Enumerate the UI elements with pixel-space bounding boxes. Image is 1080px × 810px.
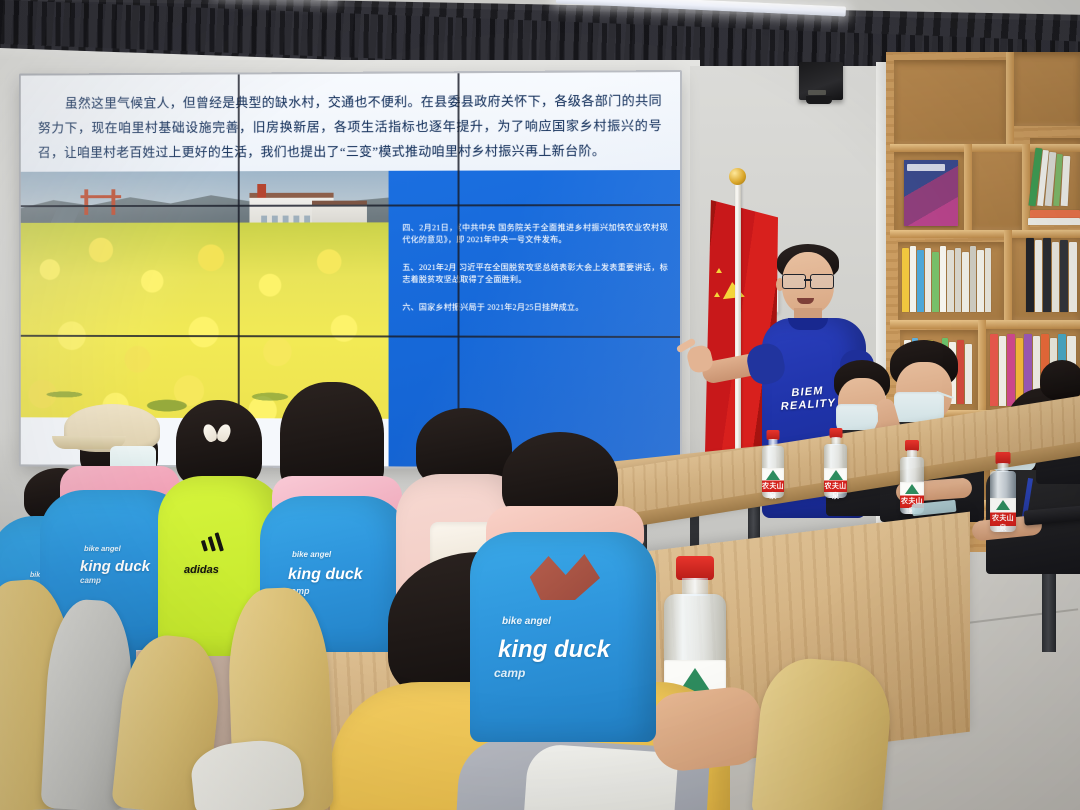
slide-list-item: 四、2月21日，《中共中央 国务院关于全面推进乡村振兴加快农业农村现代化的意见》… [402, 222, 668, 246]
book [1043, 238, 1051, 312]
flag-finial-icon [729, 168, 746, 185]
slide-paragraph: 虽然这里气候宜人，但曾经是典型的缺水村，交通也不便利。在县委县政府关怀下，各级各… [38, 88, 662, 165]
flag-star-small-icon [714, 292, 720, 297]
book [902, 248, 909, 312]
book-stack [1028, 218, 1080, 225]
shelf-cubby [972, 144, 1022, 230]
child-hand [648, 684, 766, 773]
jersey-subtext: bike angel [502, 616, 551, 627]
wall-speaker-icon [799, 62, 843, 100]
presenter-collar [788, 318, 828, 330]
water-bottle[interactable]: 农夫山泉 [990, 452, 1016, 532]
book [977, 250, 984, 312]
speaker-mount [806, 96, 832, 104]
bottle-label: 农夫山泉 [824, 468, 847, 492]
book [940, 246, 946, 312]
jersey-text: king duck [498, 636, 610, 664]
book [932, 252, 939, 312]
shelf-cubby [1014, 52, 1080, 126]
jersey-text: king duck [80, 558, 150, 575]
shelf-divider [1006, 52, 1014, 144]
glasses-icon [780, 274, 836, 287]
slide-paragraph-area: 虽然这里气候宜人，但曾经是典型的缺水村，交通也不便利。在县委县政府关怀下，各级各… [21, 72, 680, 172]
child-attendee: king duck bike angel camp [476, 440, 656, 740]
shelf-divider [964, 144, 972, 230]
water-bottle[interactable]: 农夫山泉 [762, 430, 784, 498]
adidas-logo-icon [204, 534, 226, 551]
book [962, 252, 969, 312]
bottle-label: 农夫山泉 [762, 468, 784, 492]
book [970, 246, 976, 312]
book [985, 248, 991, 312]
water-bottle[interactable]: 农夫山泉 [824, 428, 847, 498]
attendee-hair [1040, 360, 1080, 400]
jersey-subtext: bike angel [292, 550, 331, 559]
book [910, 246, 916, 312]
book [1026, 238, 1034, 312]
shelf-plank [890, 144, 1080, 152]
book [1060, 240, 1068, 312]
shelf-plank [890, 230, 1080, 238]
flag-pole [735, 178, 741, 488]
book [955, 248, 961, 312]
jersey-text: adidas [184, 564, 219, 576]
jersey-subtext: bike angel [84, 544, 121, 553]
book [1052, 242, 1059, 312]
book-stack [1030, 210, 1080, 218]
magazine [904, 160, 958, 226]
bottle-label: 农夫山泉 [990, 498, 1016, 526]
classroom-scene: 虽然这里气候宜人，但曾经是典型的缺水村，交通也不便利。在县委县政府关怀下，各级各… [0, 0, 1080, 810]
mountain-logo-icon [766, 470, 780, 480]
bottle-brand: 农夫山泉 [990, 513, 1016, 533]
book [1069, 242, 1077, 312]
flag-star-small-icon [716, 268, 722, 273]
mountain-logo-icon [996, 500, 1010, 510]
jersey-team: camp [494, 666, 525, 680]
chair[interactable] [751, 655, 894, 810]
mountain-logo-icon [905, 484, 919, 494]
jersey-team: camp [80, 576, 101, 585]
book [1035, 240, 1042, 312]
bottle-brand: 农夫山泉 [824, 481, 847, 501]
slide-list-item: 六、国家乡村振兴局于 2021年2月25日挂牌成立。 [402, 302, 668, 314]
bottle-brand: 农夫山泉 [762, 481, 784, 501]
book [925, 248, 931, 312]
book [917, 250, 924, 312]
shelf-cubby [894, 60, 1006, 144]
mountain-logo-icon [829, 470, 843, 480]
slide-list-item: 五、2021年2月 习近平在全国脱贫攻坚总结表彰大会上发表重要讲话，标志着脱贫攻… [402, 262, 668, 286]
shelf-divider [1004, 230, 1012, 320]
book [947, 250, 954, 312]
hair-bow [204, 424, 230, 444]
